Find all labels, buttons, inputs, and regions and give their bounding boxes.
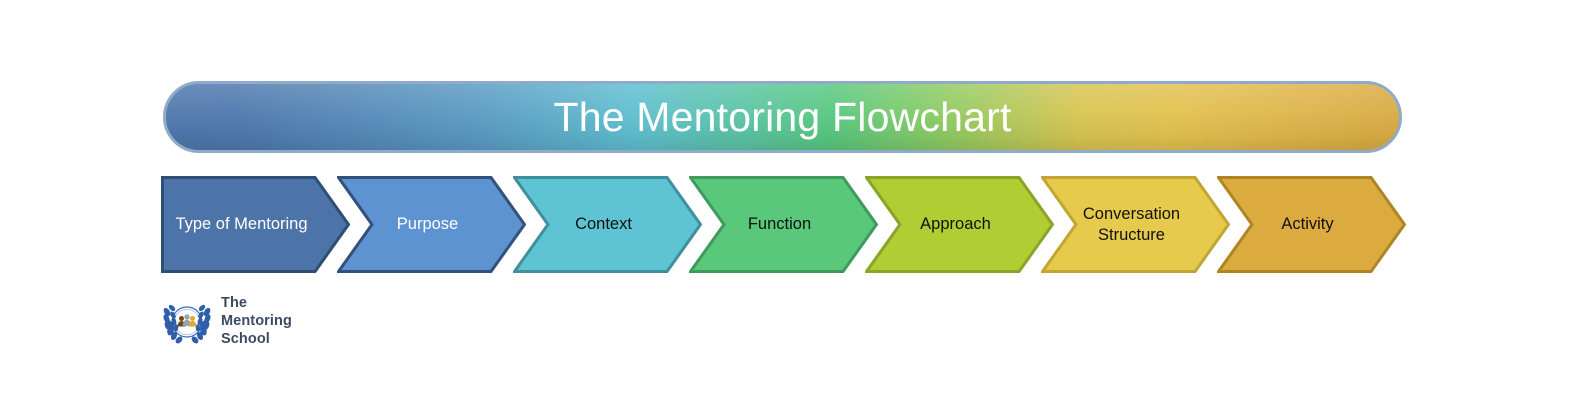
brand-logo: The Mentoring School [161,293,341,351]
flow-step-4[interactable]: Function [689,176,878,273]
flow-step-7[interactable]: Activity [1217,176,1406,273]
flow-step-2[interactable]: Purpose [337,176,526,273]
page-title: The Mentoring Flowchart [553,97,1011,138]
the-mentoring-school-emblem-icon [161,296,213,348]
flow-step-shape [161,176,350,273]
flow-step-shape [337,176,526,273]
brand-name: The Mentoring School [221,295,292,348]
flow-step-shape [865,176,1054,273]
flowchart-title-banner: The Mentoring Flowchart [163,81,1402,153]
flow-step-shape [1041,176,1230,273]
flow-step-3[interactable]: Context [513,176,702,273]
flow-step-shape [513,176,702,273]
flow-step-5[interactable]: Approach [865,176,1054,273]
flow-step-6[interactable]: Conversation Structure [1041,176,1230,273]
mentoring-flow-steps: Type of MentoringPurposeContextFunctionA… [161,176,1404,273]
flow-step-shape [689,176,878,273]
flow-step-shape [1217,176,1406,273]
flow-step-1[interactable]: Type of Mentoring [161,176,350,273]
